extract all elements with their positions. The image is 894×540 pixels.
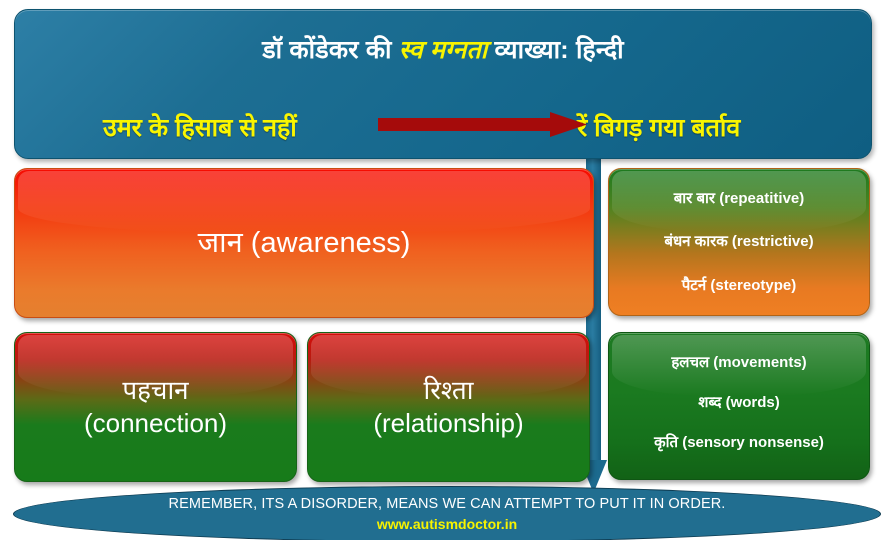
box-behaviour[interactable]: बार बार (repeatitive) बंधन कारक (restric… bbox=[608, 168, 870, 316]
box-symptoms[interactable]: हलचल (movements) शब्द (words) कृति (sens… bbox=[608, 332, 870, 480]
page-title: डॉ कोंडेकर की स्व मग्नता व्याख्या: हिन्द… bbox=[15, 32, 871, 66]
relationship-hindi: रिश्ता bbox=[424, 375, 474, 405]
footer-message: REMEMBER, ITS A DISORDER, MEANS WE CAN A… bbox=[169, 496, 726, 512]
symptoms-line-1: हलचल (movements) bbox=[671, 354, 806, 371]
box-connection-label: पहचान (connection) bbox=[84, 374, 227, 441]
behaviour-line-3: पैटर्न (stereotype) bbox=[682, 277, 796, 294]
infographic-canvas: डॉ कोंडेकर की स्व मग्नता व्याख्या: हिन्द… bbox=[0, 0, 894, 540]
box-awareness[interactable]: जान (awareness) bbox=[14, 168, 594, 318]
box-relationship-label: रिश्ता (relationship) bbox=[373, 374, 523, 441]
behaviour-line-2: बंधन कारक (restrictive) bbox=[664, 233, 813, 250]
symptoms-line-3: कृति (sensory nonsense) bbox=[654, 434, 824, 451]
box-relationship[interactable]: रिश्ता (relationship) bbox=[307, 332, 590, 482]
title-highlight: स्व मग्नता bbox=[399, 36, 488, 64]
subtitle-right: रें बिगड़ गया बर्ताव bbox=[577, 110, 740, 144]
relationship-english: (relationship) bbox=[373, 408, 523, 438]
box-awareness-label: जान (awareness) bbox=[198, 226, 411, 261]
behaviour-line-1: बार बार (repeatitive) bbox=[674, 190, 805, 207]
right-arrow-icon bbox=[378, 112, 588, 138]
title-prefix: डॉ कोंडेकर की bbox=[262, 36, 399, 64]
box-connection[interactable]: पहचान (connection) bbox=[14, 332, 297, 482]
title-suffix: व्याख्या: हिन्दी bbox=[487, 36, 623, 64]
symptoms-line-2: शब्द (words) bbox=[698, 394, 780, 411]
footer-website-link[interactable]: www.autismdoctor.in bbox=[377, 516, 517, 532]
subtitle-left: उमर के हिसाब से नहीं bbox=[103, 110, 297, 144]
connection-hindi: पहचान bbox=[122, 375, 188, 405]
footer-banner: REMEMBER, ITS A DISORDER, MEANS WE CAN A… bbox=[13, 486, 881, 540]
connection-english: (connection) bbox=[84, 408, 227, 438]
